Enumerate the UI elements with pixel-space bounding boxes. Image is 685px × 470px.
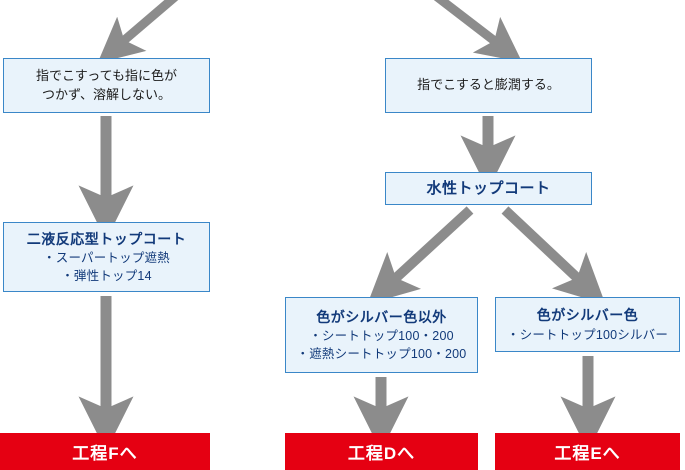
node-two-part-topcoat[interactable]: 二液反応型トップコート ・スーパートップ遮熱 ・弾性トップ14 <box>3 222 210 292</box>
terminal-process-e-label: 工程Eへ <box>554 439 620 464</box>
arrow-water-to-nonsilver <box>385 210 470 288</box>
node-color-non-silver-product-list: ・シートトップ100・200 ・遮熱シートトップ100・200 <box>297 327 467 363</box>
node-two-part-topcoat-title: 二液反応型トップコート <box>27 229 187 249</box>
node-color-non-silver[interactable]: 色がシルバー色以外 ・シートトップ100・200 ・遮熱シートトップ100・20… <box>285 297 478 373</box>
terminal-process-d[interactable]: 工程Dへ <box>285 433 478 470</box>
list-item: ・スーパートップ遮熱 <box>43 249 170 267</box>
arrow-in-right <box>436 0 505 49</box>
node-rub-no-color[interactable]: 指でこすっても指に色が つかず、溶解しない。 <box>3 58 210 113</box>
list-item: ・シートトップ100シルバー <box>507 326 668 344</box>
list-item: ・弾性トップ14 <box>43 267 170 285</box>
terminal-process-f-label: 工程Fへ <box>72 439 137 464</box>
node-rub-swell-line-1: 指でこすると膨潤する。 <box>417 76 560 95</box>
arrow-water-to-silver <box>505 210 588 288</box>
node-water-based-topcoat[interactable]: 水性トップコート <box>385 172 592 205</box>
flowchart-canvas: 指でこすっても指に色が つかず、溶解しない。 指でこすると膨潤する。 水性トップ… <box>0 0 685 470</box>
node-color-silver-product-list: ・シートトップ100シルバー <box>507 326 668 344</box>
node-color-non-silver-title: 色がシルバー色以外 <box>316 307 447 327</box>
node-rub-no-color-line-1: 指でこすっても指に色が <box>36 67 177 86</box>
list-item: ・遮熱シートトップ100・200 <box>297 345 467 363</box>
terminal-process-f[interactable]: 工程Fへ <box>0 433 210 470</box>
node-water-based-topcoat-title: 水性トップコート <box>426 178 550 200</box>
node-rub-no-color-line-2: つかず、溶解しない。 <box>42 86 171 105</box>
list-item: ・シートトップ100・200 <box>297 327 467 345</box>
node-color-silver-title: 色がシルバー色 <box>537 305 639 325</box>
terminal-process-d-label: 工程Dへ <box>348 439 415 464</box>
arrow-in-left <box>114 0 176 49</box>
terminal-process-e[interactable]: 工程Eへ <box>495 433 680 470</box>
node-two-part-topcoat-product-list: ・スーパートップ遮熱 ・弾性トップ14 <box>43 249 170 285</box>
node-rub-swell[interactable]: 指でこすると膨潤する。 <box>385 58 592 113</box>
node-color-silver[interactable]: 色がシルバー色 ・シートトップ100シルバー <box>495 297 680 352</box>
